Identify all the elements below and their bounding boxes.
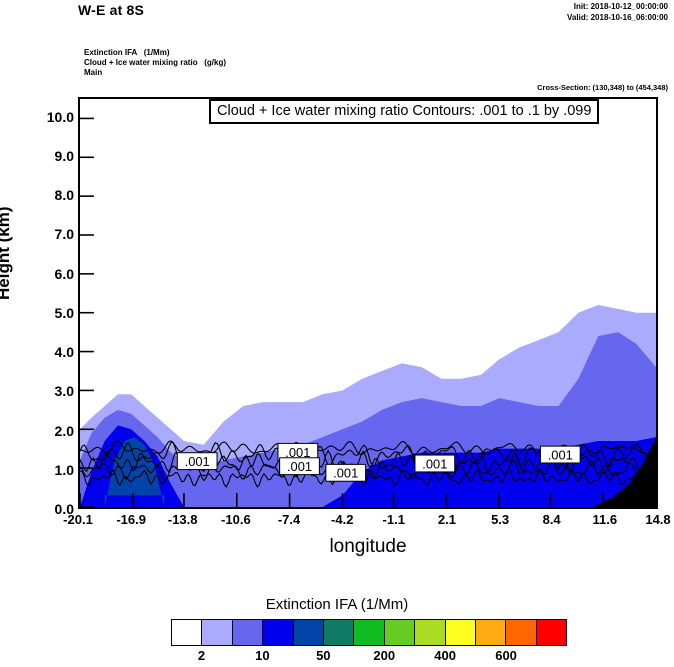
x-tick-label: 14.8 [645,512,670,527]
colorbar-cell [324,620,354,645]
colorbar-cell [172,620,202,645]
contour-label-text: .001 [548,448,573,463]
colorbar-cell [446,620,476,645]
x-tick-label: -7.4 [278,512,300,527]
x-axis-ticks: -20.1-16.9-13.8-10.6-7.4-4.2-1.12.15.38.… [78,512,658,532]
x-tick-label: 5.3 [491,512,509,527]
variable-info-block: Extinction IFA (1/Mm) Cloud + Ice water … [84,48,226,78]
init-time-label: Init: 2018-10-12_00:00:00 [574,2,668,11]
plot-area: .001.001.001.001.001.001 [78,97,658,509]
colorbar-tick-label: 600 [495,648,517,663]
y-axis-ticks: 0.01.02.03.04.05.06.07.08.09.010.0 [16,97,74,509]
page-title: W-E at 8S [78,2,144,18]
colorbar-cell [202,620,232,645]
colorbar-tick-label: 10 [255,648,269,663]
colorbar [171,619,567,646]
y-tick-label: 7.0 [30,226,74,242]
variable-line-extinction: Extinction IFA (1/Mm) [84,48,226,58]
colorbar-cell [385,620,415,645]
colorbar-cell [506,620,536,645]
colorbar-tick-label: 50 [316,648,330,663]
colorbar-cell [537,620,566,645]
y-tick-label: 4.0 [30,344,74,360]
contour-title-box: Cloud + Ice water mixing ratio Contours:… [209,99,599,124]
cross-section-label: Cross-Section: (130,348) to (454,348) [537,83,668,92]
x-tick-label: -4.2 [331,512,353,527]
colorbar-cell [415,620,445,645]
x-tick-label: -16.9 [116,512,146,527]
x-tick-label: 2.1 [438,512,456,527]
cross-section-plot: .001.001.001.001.001.001 [80,99,656,507]
colorbar-cell [294,620,324,645]
y-axis-label: Height (km) [0,207,14,301]
contour-label-text: .001 [287,459,312,474]
y-tick-label: 1.0 [30,462,74,478]
y-tick-label: 3.0 [30,383,74,399]
x-tick-label: 8.4 [543,512,561,527]
colorbar-title: Extinction IFA (1/Mm) [0,596,674,613]
colorbar-tick-label: 400 [434,648,456,663]
contour-label-text: .001 [422,456,447,471]
x-tick-label: -1.1 [383,512,405,527]
x-axis-label: longitude [78,536,658,558]
y-tick-label: 5.0 [30,305,74,321]
variable-line-mixing-ratio: Cloud + Ice water mixing ratio (g/kg) [84,58,226,68]
y-tick-label: 9.0 [30,148,74,164]
colorbar-cell [354,620,384,645]
contour-label-text: .001 [333,466,358,481]
colorbar-tick-label: 2 [198,648,205,663]
colorbar-cell [233,620,263,645]
variable-line-domain: Main [84,68,226,78]
x-tick-label: -13.8 [168,512,198,527]
x-tick-label: -10.6 [221,512,251,527]
colorbar-cell [476,620,506,645]
y-tick-label: 10.0 [30,109,74,125]
colorbar-tick-labels: 21050200400600 [171,648,567,666]
y-tick-label: 6.0 [30,266,74,282]
valid-time-label: Valid: 2018-10-16_06:00:00 [567,13,668,22]
y-tick-label: 8.0 [30,187,74,203]
x-tick-label: -20.1 [63,512,93,527]
x-tick-label: 11.6 [593,512,618,527]
contour-label-text: .001 [185,454,210,469]
contour-title-text: Cloud + Ice water mixing ratio Contours:… [217,103,591,119]
colorbar-tick-label: 200 [373,648,395,663]
colorbar-cell [263,620,293,645]
y-tick-label: 2.0 [30,423,74,439]
